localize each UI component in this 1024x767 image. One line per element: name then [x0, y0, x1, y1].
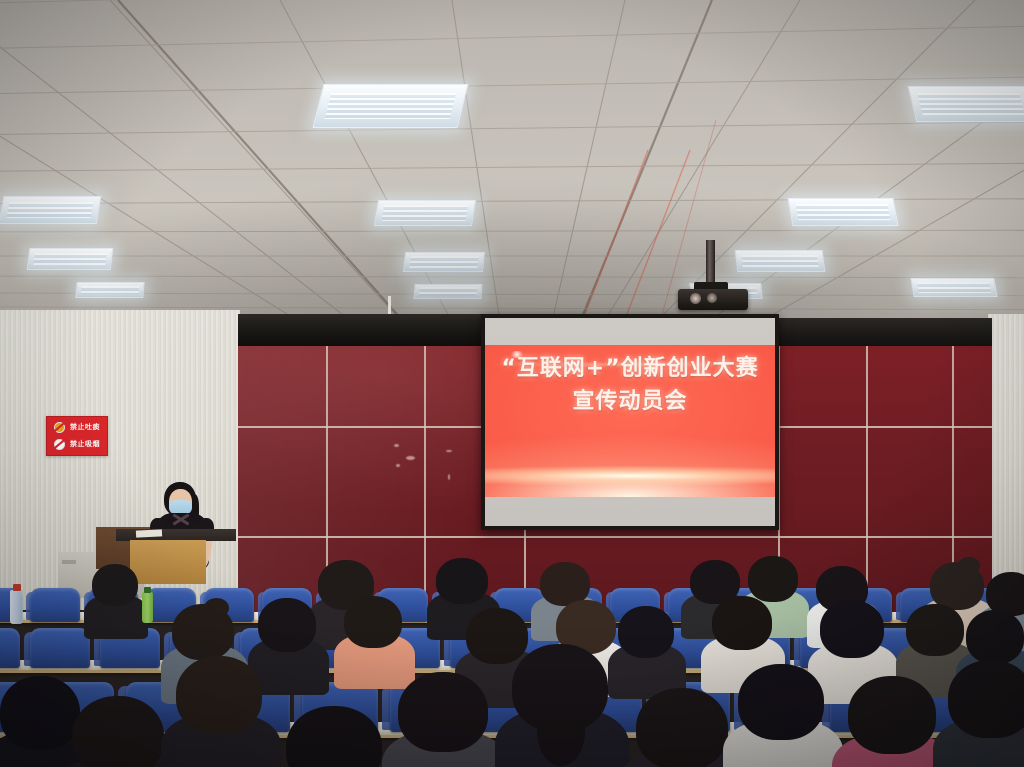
audience-member — [636, 688, 728, 767]
slide-title-line2: 宣传动员会 — [485, 383, 775, 415]
audience-head — [436, 558, 488, 604]
audience-head — [176, 656, 262, 734]
projection-screen-frame: “互联网+”创新创业大赛 宣传动员会 — [481, 314, 779, 530]
no-smoking-label: 禁止吸烟 — [70, 441, 100, 448]
lecture-hall-photo: “互联网+”创新创业大赛 宣传动员会 禁止吐痰 禁止吸烟 — [0, 0, 1024, 767]
ceiling-light-panel — [313, 84, 469, 128]
ceiling-light-panel — [908, 86, 1024, 122]
prohibition-sign: 禁止吐痰 禁止吸烟 — [46, 416, 108, 456]
green-bottle-cap — [144, 587, 151, 593]
auditorium-seat[interactable] — [0, 628, 20, 668]
wall-speck-5 — [448, 474, 450, 480]
cabinet-handle — [62, 560, 76, 564]
audience-head — [906, 604, 964, 656]
slide-title-line1: “互联网+”创新创业大赛 — [485, 350, 775, 382]
slide-light-flare — [485, 463, 775, 489]
projected-slide: “互联网+”创新创业大赛 宣传动员会 — [485, 345, 775, 497]
audience-member — [848, 676, 936, 767]
ceiling-light-panel — [75, 282, 144, 298]
audience-member — [286, 706, 382, 767]
audience-head — [848, 676, 936, 754]
audience-hair-bun — [204, 598, 229, 618]
ceiling-light-panel — [910, 278, 997, 297]
audience-member — [258, 598, 316, 692]
audience-member — [512, 644, 608, 767]
audience-member — [92, 564, 138, 646]
audience-head — [72, 696, 164, 767]
audience-member — [618, 606, 674, 698]
ceiling-light-panel — [0, 196, 101, 224]
audience-head — [286, 706, 382, 767]
podium-papers — [136, 529, 162, 537]
ceiling-light-panel — [403, 252, 485, 272]
audience-head — [738, 664, 824, 740]
ceiling-tile-grid — [0, 0, 1024, 322]
green-bottle — [142, 592, 153, 623]
audience-head — [258, 598, 316, 652]
audience-head — [820, 600, 884, 658]
ceiling-light-panel — [413, 284, 482, 299]
wall-speck-2 — [406, 456, 415, 460]
audience-member — [738, 664, 824, 767]
ceiling-light-panel — [374, 200, 476, 226]
audience-head — [398, 672, 488, 752]
audience-head — [0, 676, 80, 750]
wall-speck-1 — [394, 444, 399, 447]
audience-member — [948, 660, 1024, 767]
audience-member — [398, 672, 488, 767]
ceiling — [0, 0, 1024, 322]
podium-body — [130, 540, 206, 584]
audience-head — [712, 596, 772, 650]
audience-member — [72, 696, 164, 767]
auditorium-seat[interactable] — [30, 628, 90, 668]
panel-seam-v2 — [424, 346, 426, 612]
audience-head — [92, 564, 138, 606]
audience-member — [176, 656, 262, 767]
slide-streak-bottom — [495, 477, 675, 481]
no-spitting-icon — [52, 420, 67, 435]
ceiling-light-panel — [27, 248, 114, 270]
audience-head — [344, 596, 402, 648]
projector-pole — [706, 240, 715, 284]
projection-screen-surface[interactable]: “互联网+”创新创业大赛 宣传动员会 — [485, 318, 775, 526]
sign-row-no-spitting: 禁止吐痰 — [49, 420, 105, 435]
ceiling-light-panel — [788, 198, 899, 226]
sign-row-no-smoking: 禁止吸烟 — [49, 437, 105, 452]
audience-hair-bun — [958, 557, 980, 574]
audience-head — [948, 660, 1024, 738]
audience-member — [344, 596, 402, 688]
panel-seam-h2 — [238, 536, 992, 538]
water-bottle — [10, 590, 23, 624]
audience-head — [618, 606, 674, 658]
ribbed-wall-right — [988, 314, 1024, 614]
auditorium-seat[interactable] — [30, 588, 80, 622]
audience-member — [0, 676, 80, 767]
no-spitting-label: 禁止吐痰 — [70, 424, 100, 431]
audience-ponytail — [537, 697, 585, 766]
audience-head — [966, 610, 1024, 664]
wall-speck-4 — [446, 450, 452, 452]
wall-speck-3 — [396, 464, 400, 467]
water-bottle-cap — [13, 584, 21, 591]
no-smoking-icon — [52, 437, 67, 452]
